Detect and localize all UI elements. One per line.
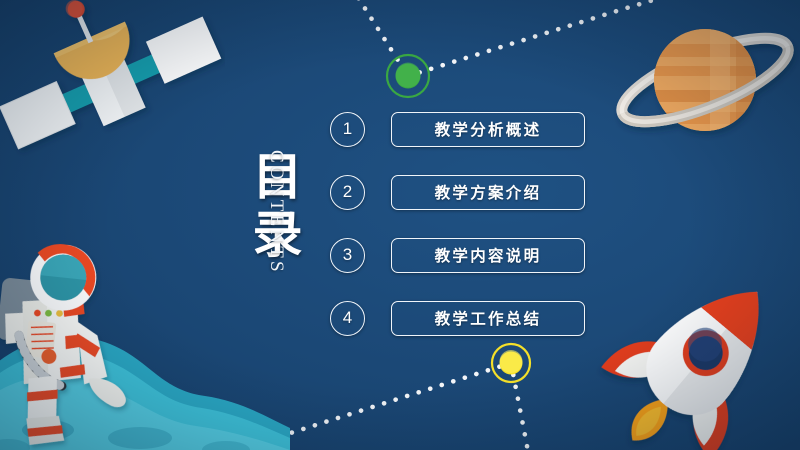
page-subtitle: CONTENTS [265, 150, 287, 275]
menu-number-2: 2 [330, 175, 365, 210]
slide-content: 目录 CONTENTS 1 教学分析概述 2 教学方案介绍 3 教学内容说明 4… [0, 0, 800, 450]
menu-box-2[interactable]: 教学方案介绍 [391, 175, 585, 210]
presentation-slide: 目录 CONTENTS 1 教学分析概述 2 教学方案介绍 3 教学内容说明 4… [0, 0, 800, 450]
menu-label-1: 教学分析概述 [435, 118, 542, 140]
menu-number-4: 4 [330, 301, 365, 336]
menu-item-2[interactable]: 2 教学方案介绍 [330, 173, 585, 211]
menu-box-3[interactable]: 教学内容说明 [391, 238, 585, 273]
menu-label-2: 教学方案介绍 [435, 181, 542, 203]
menu-label-4: 教学工作总结 [435, 307, 542, 329]
menu-item-4[interactable]: 4 教学工作总结 [330, 299, 585, 337]
menu-label-3: 教学内容说明 [435, 244, 542, 266]
menu-box-4[interactable]: 教学工作总结 [391, 301, 585, 336]
menu-number-3: 3 [330, 238, 365, 273]
menu-number-1: 1 [330, 112, 365, 147]
menu-item-1[interactable]: 1 教学分析概述 [330, 110, 585, 148]
menu-box-1[interactable]: 教学分析概述 [391, 112, 585, 147]
menu-item-3[interactable]: 3 教学内容说明 [330, 236, 585, 274]
